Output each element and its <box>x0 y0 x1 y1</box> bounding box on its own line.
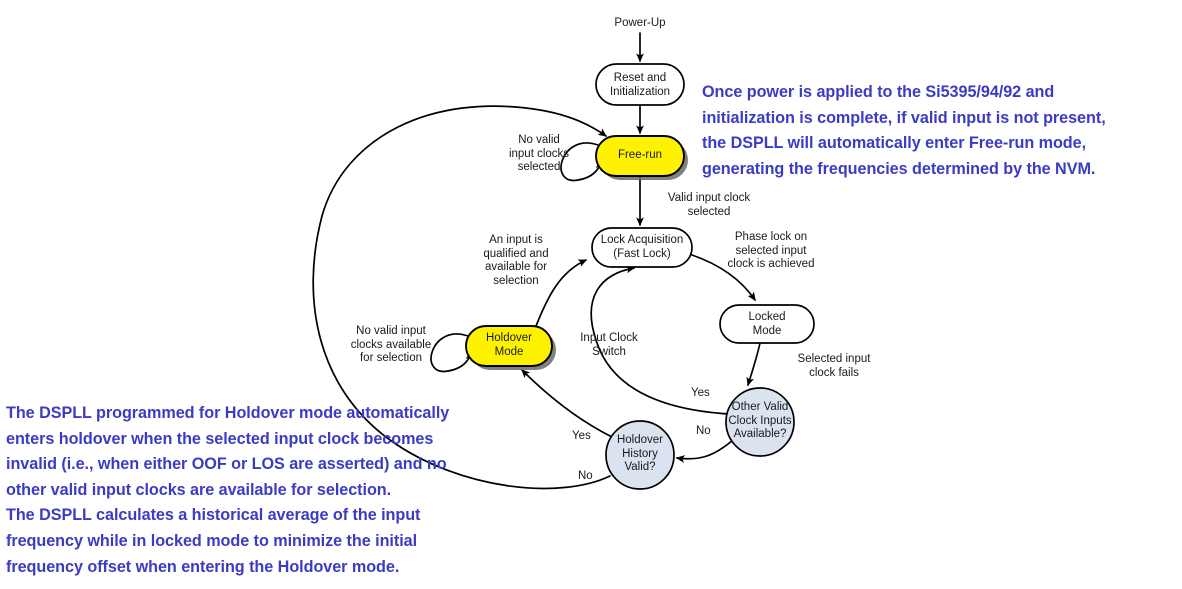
pl-line-1: Phase lock on <box>706 231 836 245</box>
edge-label-valid-input-clock-selected: Valid input clock selected <box>644 192 774 219</box>
iq-line-4: selection <box>461 275 571 289</box>
state-node-locked-mode[interactable] <box>720 305 814 343</box>
iq-line-3: available for <box>461 261 571 275</box>
branch-label-history-yes: Yes <box>572 430 591 443</box>
branch-label-other-valid-yes: Yes <box>691 387 710 400</box>
decision-node-other-valid-clock-inputs[interactable] <box>726 388 794 456</box>
edge-locked-to-othervalid <box>748 343 760 385</box>
iq-line-1: An input is <box>461 234 571 248</box>
edge-label-power-up: Power-Up <box>590 17 690 31</box>
sif-line-1: Selected input <box>776 353 892 367</box>
state-node-reset[interactable] <box>596 64 684 105</box>
vic-line-2: selected <box>644 206 774 220</box>
edge-label-phase-lock-achieved: Phase lock on selected input clock is ac… <box>706 231 836 272</box>
decision-node-holdover-history-valid[interactable] <box>606 421 674 489</box>
nva-line-1: No valid input <box>332 325 450 339</box>
annotation-note-freerun: Once power is applied to the Si5395/94/9… <box>702 80 1180 182</box>
state-node-lock-acquisition[interactable] <box>592 228 692 267</box>
ics-line-2: Switch <box>559 346 659 360</box>
annotation-note-holdover: The DSPLL programmed for Holdover mode a… <box>6 401 546 580</box>
branch-label-other-valid-no: No <box>696 425 711 438</box>
state-node-holdover-mode[interactable] <box>466 326 552 366</box>
branch-label-history-no: No <box>578 470 593 483</box>
nvs-line-3: selected <box>484 161 594 175</box>
state-diagram-canvas: Power-Up Reset and Initialization Free-r… <box>0 0 1182 589</box>
edge-label-input-qualified-available: An input is qualified and available for … <box>461 234 571 288</box>
nvs-line-1: No valid <box>484 134 594 148</box>
pl-line-2: selected input <box>706 245 836 259</box>
ics-line-1: Input Clock <box>559 332 659 346</box>
power-up-text: Power-Up <box>590 17 690 31</box>
nva-line-2: clocks available <box>332 339 450 353</box>
edge-label-selected-input-clock-fails: Selected input clock fails <box>776 353 892 380</box>
sif-line-2: clock fails <box>776 367 892 381</box>
state-node-freerun[interactable] <box>596 136 684 176</box>
nva-line-3: for selection <box>332 352 450 366</box>
edge-label-no-valid-input-clocks-selected: No valid input clocks selected <box>484 134 594 175</box>
edge-label-no-valid-clocks-available: No valid input clocks available for sele… <box>332 325 450 366</box>
vic-line-1: Valid input clock <box>644 192 774 206</box>
edge-othervalid-no-to-historyvalid <box>677 440 733 459</box>
nvs-line-2: input clocks <box>484 148 594 162</box>
pl-line-3: clock is achieved <box>706 258 836 272</box>
edge-label-input-clock-switch: Input Clock Switch <box>559 332 659 359</box>
iq-line-2: qualified and <box>461 248 571 262</box>
